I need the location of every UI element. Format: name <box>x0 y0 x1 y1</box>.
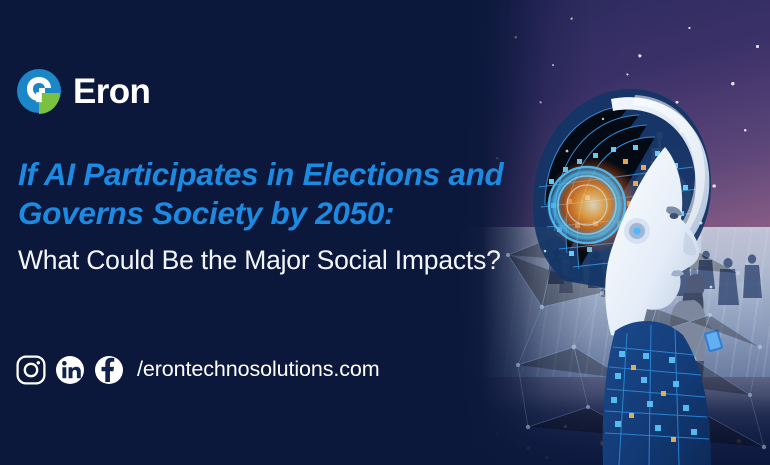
brand-lockup[interactable]: Eron <box>16 68 150 114</box>
linkedin-icon[interactable] <box>55 355 85 385</box>
brand-name: Eron <box>73 74 150 109</box>
website-url[interactable]: /erontechnosolutions.com <box>137 359 380 381</box>
social-media-banner: Eron If AI Participates in Elections and… <box>0 0 770 465</box>
instagram-icon[interactable] <box>16 355 46 385</box>
facebook-icon[interactable] <box>94 355 124 385</box>
headline-block: If AI Participates in Elections and Gove… <box>18 155 558 277</box>
headline-subhead: What Could Be the Major Social Impacts? <box>18 245 558 277</box>
eron-logo-icon <box>16 68 62 114</box>
banner-content: Eron If AI Participates in Elections and… <box>0 0 560 465</box>
headline-line-1: If AI Participates in Elections and <box>18 155 558 194</box>
headline-line-2: Governs Society by 2050: <box>18 194 558 233</box>
social-links-row: /erontechnosolutions.com <box>16 355 380 385</box>
